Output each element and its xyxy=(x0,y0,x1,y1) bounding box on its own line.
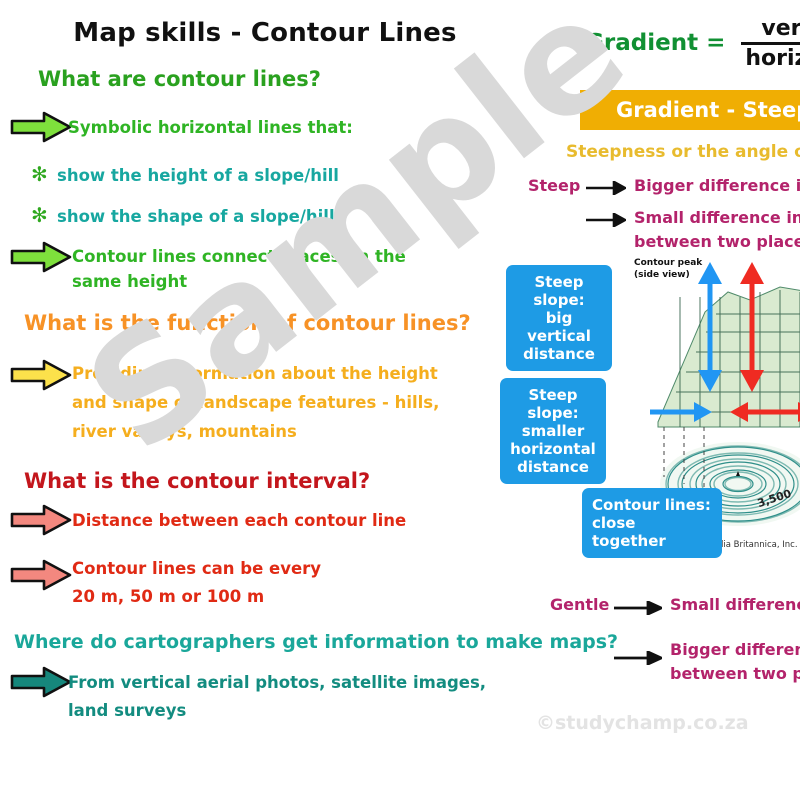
steep-row-text-1: Bigger difference in height xyxy=(634,176,800,195)
gentle-arrow-icon xyxy=(614,600,662,619)
interval-definition: Distance between each contour line xyxy=(72,510,406,533)
green-block-arrow-icon xyxy=(10,110,72,144)
steep-label: Steep xyxy=(528,176,580,195)
function-line-3: river valleys, mountains xyxy=(72,421,297,444)
steep-row-text-2: Small difference in height xyxy=(634,208,800,227)
asterisk-bullet-icon-2: ✻ xyxy=(31,205,48,225)
banner-subtitle: Steepness or the angle of a slope xyxy=(566,142,800,162)
right-column: Gradient = vertical distance horizontal … xyxy=(530,0,800,800)
heading-contour-interval: What is the contour interval? xyxy=(24,470,370,493)
gradient-formula-label: Gradient = xyxy=(585,30,725,56)
gradient-steepness-banner: Gradient - Steepness xyxy=(580,90,800,130)
gentle-label: Gentle xyxy=(550,595,609,614)
callout-steep-slope-horizontal: Steep slope: smaller horizontal distance xyxy=(500,378,606,484)
salmon-block-arrow-icon-2 xyxy=(10,558,72,592)
green-block-arrow-icon-2 xyxy=(10,240,72,274)
cartographers-answer-line-2: land surveys xyxy=(68,700,186,723)
bullet-show-height: show the height of a slope/hill xyxy=(57,165,339,188)
steep-bottom-arrow-icon xyxy=(614,650,662,669)
cartographers-answer-line-1: From vertical aerial photos, satellite i… xyxy=(68,672,486,695)
gentle-description: Small difference in height xyxy=(670,595,800,614)
bullet-show-shape: show the shape of a slope/hill xyxy=(57,206,335,229)
steep-description-line-1: Bigger difference in height xyxy=(670,640,800,659)
interval-values-line-1: Contour lines can be every xyxy=(72,558,321,581)
gradient-fraction: vertical distance horizontal distance xyxy=(741,16,800,71)
callout-contour-lines-close: Contour lines: close together xyxy=(582,488,722,558)
callout-steep-slope-vertical: Steep slope: big vertical distance xyxy=(506,265,612,371)
diagram-caption-line-2: (side view) xyxy=(634,270,690,281)
left-column: Map skills - Contour Lines What are cont… xyxy=(0,0,530,800)
dark-teal-block-arrow-icon xyxy=(10,665,72,699)
diagram-caption-line-1: Contour peak xyxy=(634,258,702,269)
asterisk-bullet-icon-1: ✻ xyxy=(31,164,48,184)
site-footer-watermark: ©studychamp.co.za xyxy=(536,712,749,734)
function-line-1: Providing information about the height xyxy=(72,363,438,386)
heading-function-of-contour-lines: What is the function of contour lines? xyxy=(24,312,471,335)
steep-arrow-icon-2 xyxy=(586,212,626,231)
worksheet-page: Map skills - Contour Lines What are cont… xyxy=(0,0,800,800)
steep-arrow-icon-1 xyxy=(586,180,626,199)
heading-what-are-contour-lines: What are contour lines? xyxy=(38,68,321,91)
gradient-formula: Gradient = vertical distance horizontal … xyxy=(585,16,800,72)
steep-row-label: Steep xyxy=(528,176,580,195)
fraction-denominator: horizontal distance xyxy=(741,45,800,71)
yellow-block-arrow-icon xyxy=(10,358,72,392)
page-title: Map skills - Contour Lines xyxy=(0,18,530,48)
salmon-block-arrow-icon-1 xyxy=(10,503,72,537)
heading-cartographers-information: Where do cartographers get information t… xyxy=(14,632,618,653)
contour-connect-line-2: same height xyxy=(72,271,187,294)
contour-connect-line-1: Contour lines connect places on the xyxy=(72,246,406,269)
fraction-numerator: vertical distance xyxy=(741,16,800,45)
function-line-2: and shape of landscape features - hills, xyxy=(72,392,439,415)
steep-row-text-3: between two places xyxy=(634,232,800,251)
contour-lines-lead-text: Symbolic horizontal lines that: xyxy=(68,117,353,140)
steep-description-line-2: between two places xyxy=(670,664,800,683)
interval-values-line-2: 20 m, 50 m or 100 m xyxy=(72,586,264,609)
